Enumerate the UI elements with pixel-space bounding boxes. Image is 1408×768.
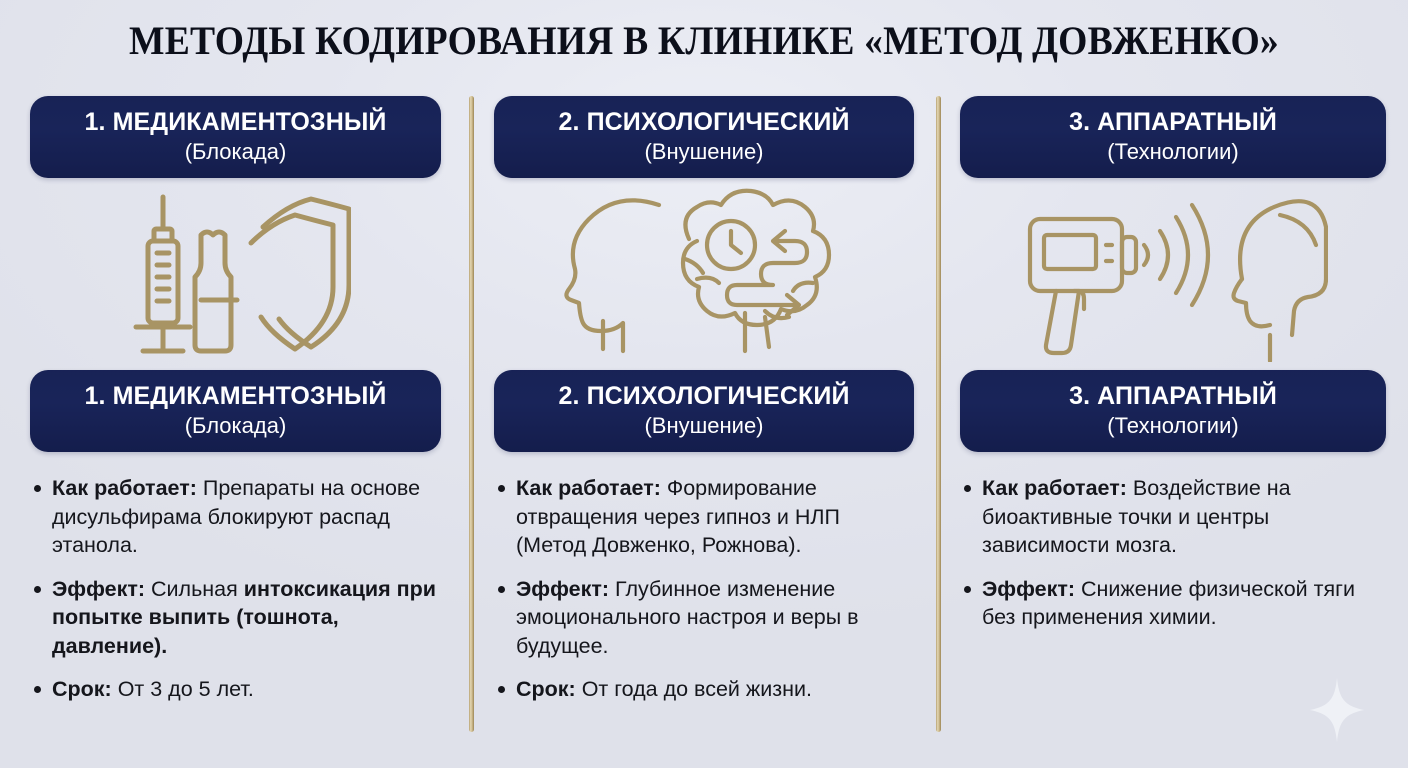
list-item: Эффект: Сильная интоксикация при попытке… xyxy=(30,575,441,661)
sparkle-icon xyxy=(1310,678,1364,742)
signal-waves-icon xyxy=(1144,205,1208,305)
bullet-label: Эффект: xyxy=(52,577,145,601)
bullet-text: От года до всей жизни. xyxy=(576,677,812,701)
header-top-title-2: 2. ПСИХОЛОГИЧЕСКИЙ xyxy=(506,107,902,137)
header-bottom-subtitle-1: (Блокада) xyxy=(42,412,429,439)
icon-syringe-ampoule-shield xyxy=(30,178,441,370)
infographic-poster: МЕТОДЫ КОДИРОВАНИЯ В КЛИНИКЕ «МЕТОД ДОВЖ… xyxy=(0,0,1408,768)
bullet-label: Срок: xyxy=(516,677,576,701)
bullet-text: От 3 до 5 лет. xyxy=(112,677,254,701)
header-bottom-subtitle-3: (Технологии) xyxy=(972,412,1374,439)
list-item: Эффект: Снижение физической тяги без при… xyxy=(960,575,1386,632)
sparkle-decoration xyxy=(1310,678,1364,742)
list-item: Срок: От 3 до 5 лет. xyxy=(30,675,441,704)
bullet-label: Эффект: xyxy=(982,577,1075,601)
bullet-label: Срок: xyxy=(52,677,112,701)
header-bottom-title-2: 2. ПСИХОЛОГИЧЕСКИЙ xyxy=(506,381,902,411)
header-top-subtitle-2: (Внушение) xyxy=(506,138,902,165)
syringe-icon xyxy=(136,197,190,351)
syringe-ampoule-shield-icon xyxy=(121,187,351,362)
list-item: Как работает: Формирование отвращения че… xyxy=(494,474,914,560)
clock-icon xyxy=(707,221,755,269)
list-item: Как работает: Воздействие на биоактивные… xyxy=(960,474,1386,560)
header-top-subtitle-3: (Технологии) xyxy=(972,138,1374,165)
icon-head-brain-clock xyxy=(494,178,914,370)
header-bottom-subtitle-2: (Внушение) xyxy=(506,412,902,439)
head-brain-clock-icon xyxy=(559,187,849,362)
head-profile-icon xyxy=(566,200,659,351)
column-apparatnyy: 3. АППАРАТНЫЙ (Технологии) xyxy=(936,0,1408,768)
columns-container: 1. МЕДИКАМЕНТОЗНЫЙ (Блокада) xyxy=(0,0,1408,768)
brain-icon xyxy=(683,190,829,350)
list-item: Эффект: Глубинное изменение эмоционально… xyxy=(494,575,914,661)
column-medikamentoznyy: 1. МЕДИКАМЕНТОЗНЫЙ (Блокада) xyxy=(0,0,469,768)
bullet-label: Как работает: xyxy=(516,476,661,500)
shield-icon xyxy=(251,199,349,349)
ampoule-icon xyxy=(195,232,237,351)
head-profile-icon xyxy=(1234,201,1327,361)
icon-device-waves-head xyxy=(960,178,1386,370)
header-top-apparatnyy: 3. АППАРАТНЫЙ (Технологии) xyxy=(960,96,1386,178)
header-top-psihologicheskiy: 2. ПСИХОЛОГИЧЕСКИЙ (Внушение) xyxy=(494,96,914,178)
arrow-path-icon xyxy=(727,231,807,315)
list-item: Как работает: Препараты на основе дисуль… xyxy=(30,474,441,560)
bullet-text: Сильная xyxy=(145,577,244,601)
bullet-list-2: Как работает: Формирование отвращения че… xyxy=(494,474,914,704)
header-bottom-title-3: 3. АППАРАТНЫЙ xyxy=(972,381,1374,411)
header-bottom-apparatnyy: 3. АППАРАТНЫЙ (Технологии) xyxy=(960,370,1386,452)
device-waves-head-icon xyxy=(1018,187,1328,362)
bullet-list-3: Как работает: Воздействие на биоактивные… xyxy=(960,474,1386,632)
header-top-medikamentoznyy: 1. МЕДИКАМЕНТОЗНЫЙ (Блокада) xyxy=(30,96,441,178)
header-top-title-1: 1. МЕДИКАМЕНТОЗНЫЙ xyxy=(42,107,429,137)
list-item: Срок: От года до всей жизни. xyxy=(494,675,914,704)
handheld-device-icon xyxy=(1030,219,1136,353)
bullet-label: Эффект: xyxy=(516,577,609,601)
header-bottom-medikamentoznyy: 1. МЕДИКАМЕНТОЗНЫЙ (Блокада) xyxy=(30,370,441,452)
column-psihologicheskiy: 2. ПСИХОЛОГИЧЕСКИЙ (Внушение) xyxy=(469,0,936,768)
header-top-subtitle-1: (Блокада) xyxy=(42,138,429,165)
bullet-label: Как работает: xyxy=(52,476,197,500)
bullet-list-1: Как работает: Препараты на основе дисуль… xyxy=(30,474,441,704)
header-top-title-3: 3. АППАРАТНЫЙ xyxy=(972,107,1374,137)
header-bottom-title-1: 1. МЕДИКАМЕНТОЗНЫЙ xyxy=(42,381,429,411)
header-bottom-psihologicheskiy: 2. ПСИХОЛОГИЧЕСКИЙ (Внушение) xyxy=(494,370,914,452)
bullet-label: Как работает: xyxy=(982,476,1127,500)
